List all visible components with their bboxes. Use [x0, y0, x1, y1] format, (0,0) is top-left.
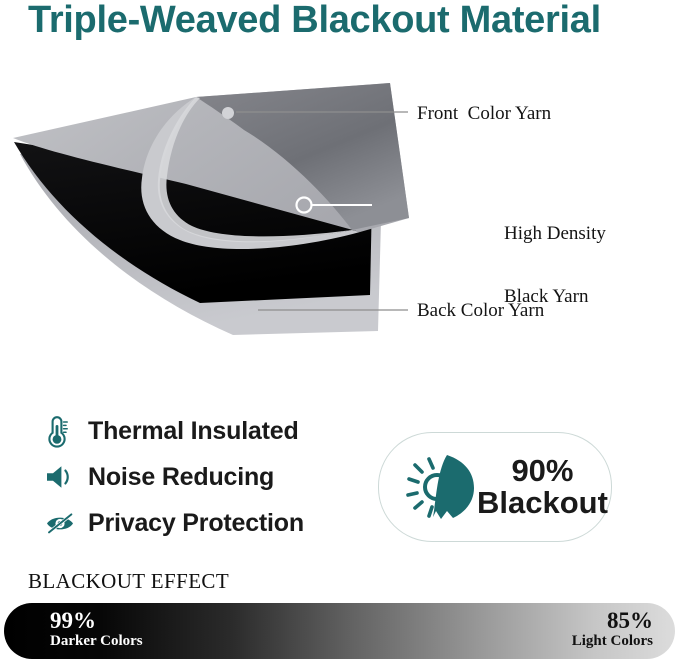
badge-percent: 90%: [477, 455, 608, 487]
left-percent: 99%: [50, 608, 143, 633]
feature-label: Thermal Insulated: [88, 417, 299, 446]
badge-text: 90% Blackout: [477, 455, 608, 518]
feature-label: Noise Reducing: [88, 463, 274, 492]
blackout-effect-bar: 99% Darker Colors 85% Light Colors: [4, 603, 675, 659]
page-title: Triple-Weaved Blackout Material: [28, 0, 601, 42]
label-front-color-yarn: Front Color Yarn: [417, 103, 551, 124]
feature-item-privacy-protection: Privacy Protection: [44, 500, 374, 546]
speaker-icon: [44, 457, 88, 497]
blackout-effect-left: 99% Darker Colors: [50, 608, 143, 650]
feature-item-thermal-insulated: Thermal Insulated: [44, 408, 374, 454]
right-label: Light Colors: [572, 633, 653, 650]
infographic-root: Triple-Weaved Blackout Material: [0, 0, 679, 655]
label-back-color-yarn: Back Color Yarn: [417, 300, 544, 321]
label-high-density-black-yarn: High Density Black Yarn: [504, 181, 606, 349]
badge-label: Blackout: [477, 487, 608, 519]
feature-item-noise-reducing: Noise Reducing: [44, 454, 374, 500]
blackout-badge: 90% Blackout: [378, 432, 612, 542]
feature-list: Thermal Insulated Noise Reducing: [44, 408, 374, 546]
blackout-effect-right: 85% Light Colors: [572, 608, 653, 650]
sun-curtain-icon: [399, 445, 483, 529]
thermometer-icon: [44, 411, 88, 451]
eye-off-icon: [44, 503, 88, 543]
right-percent: 85%: [572, 608, 653, 633]
label-high-density-line1: High Density: [504, 223, 606, 244]
left-label: Darker Colors: [50, 633, 143, 650]
feature-label: Privacy Protection: [88, 509, 304, 538]
blackout-effect-title: BLACKOUT EFFECT: [28, 569, 229, 594]
